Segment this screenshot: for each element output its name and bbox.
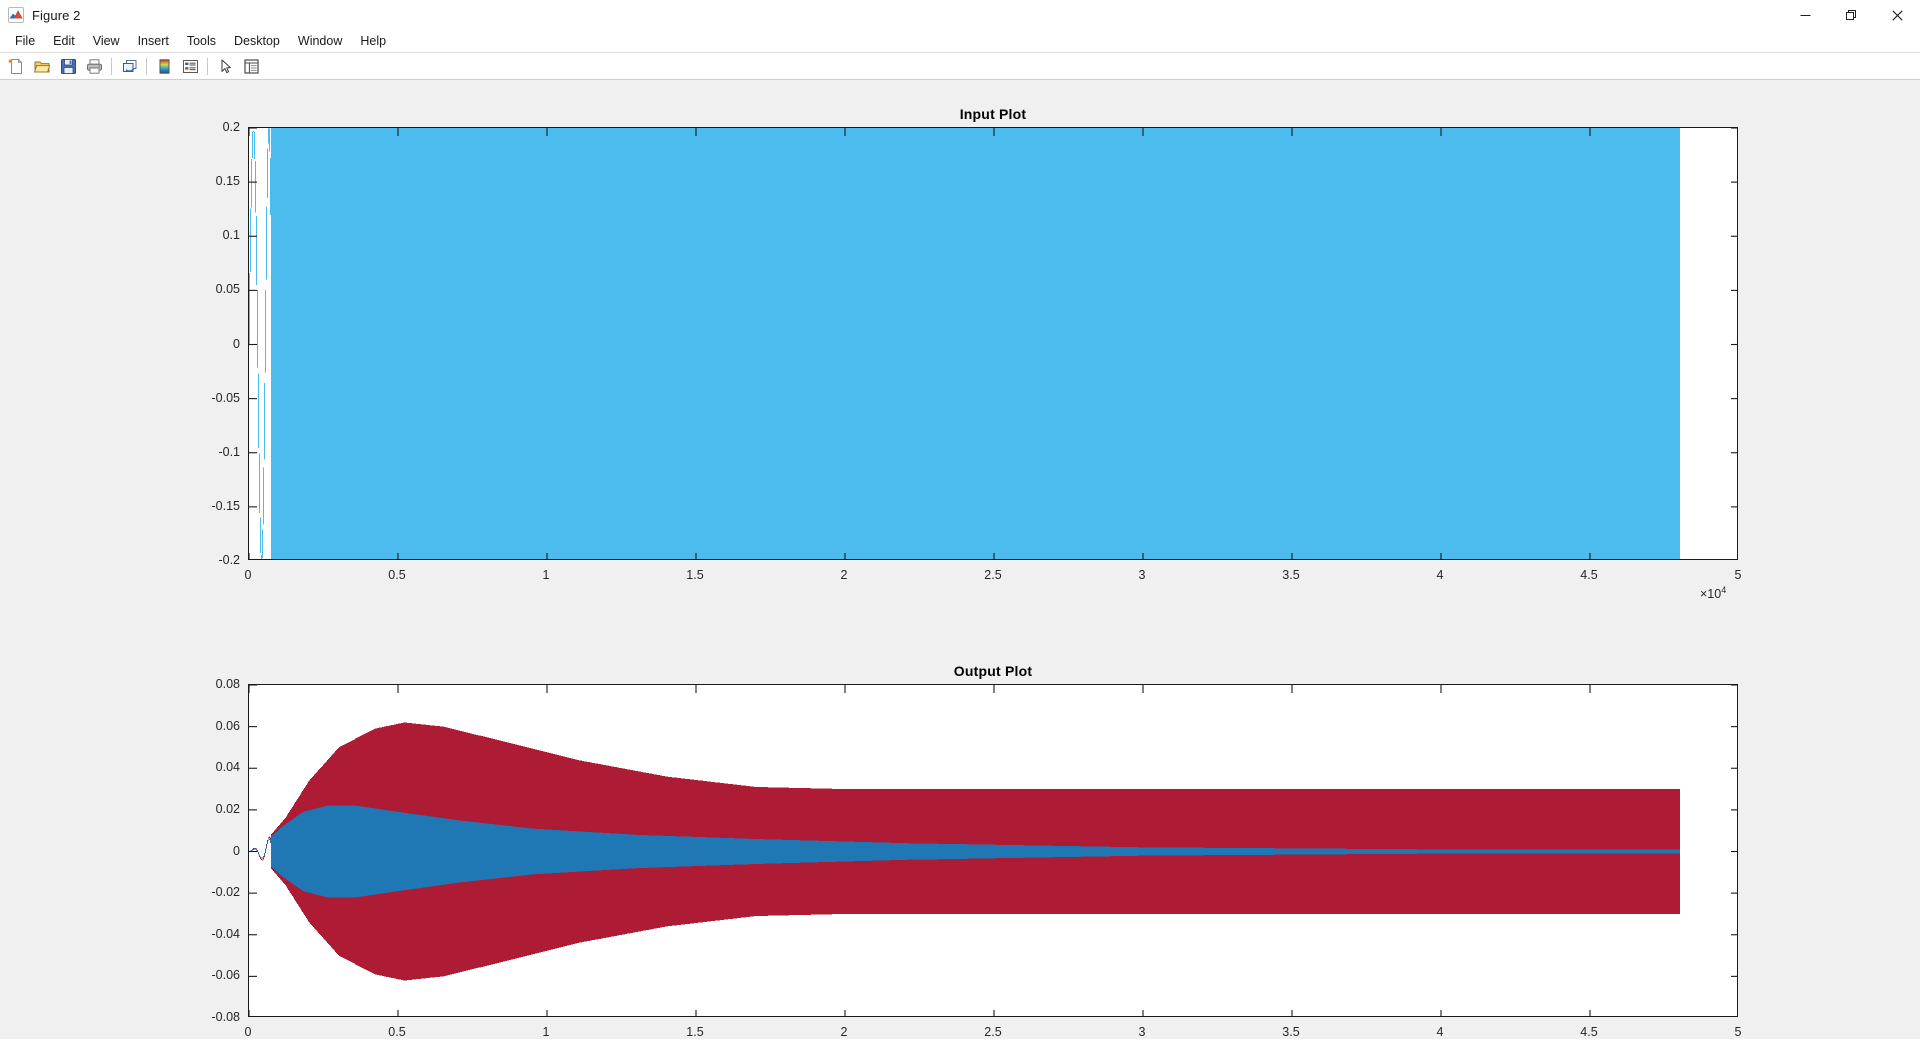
output-plot-area[interactable] xyxy=(248,684,1738,1017)
save-icon[interactable] xyxy=(56,55,80,78)
property-editor-icon[interactable] xyxy=(239,55,263,78)
toolbar-separator-2 xyxy=(146,58,147,75)
xtick-label: 1 xyxy=(543,1025,550,1039)
ytick-label: 0 xyxy=(233,844,240,858)
output-plot-title: Output Plot xyxy=(248,663,1738,679)
xtick-label: 3.5 xyxy=(1282,1025,1299,1039)
print-icon[interactable] xyxy=(82,55,106,78)
menu-insert[interactable]: Insert xyxy=(129,31,178,52)
menu-tools[interactable]: Tools xyxy=(178,31,225,52)
window-title: Figure 2 xyxy=(32,8,81,23)
ytick-label: 0.06 xyxy=(216,719,240,733)
output-plot-traces xyxy=(249,685,1738,1017)
pointer-arrow-icon[interactable] xyxy=(213,55,237,78)
xtick-label: 2.5 xyxy=(984,1025,1001,1039)
menu-help[interactable]: Help xyxy=(351,31,395,52)
window-titlebar: Figure 2 xyxy=(0,0,1920,30)
toolbar-separator-3 xyxy=(207,58,208,75)
ytick-label: -0.08 xyxy=(212,1010,241,1024)
xtick-label: 0 xyxy=(245,1025,252,1039)
xtick-label: 0.5 xyxy=(388,1025,405,1039)
ytick-label: -0.06 xyxy=(212,968,241,982)
menu-desktop[interactable]: Desktop xyxy=(225,31,289,52)
open-folder-icon[interactable] xyxy=(30,55,54,78)
xtick-label: 5 xyxy=(1735,1025,1742,1039)
colorbar-icon[interactable] xyxy=(152,55,176,78)
legend-icon[interactable] xyxy=(178,55,202,78)
ytick-label: -0.02 xyxy=(212,885,241,899)
matlab-figure-icon xyxy=(8,7,24,23)
minimize-button[interactable] xyxy=(1782,0,1828,30)
toolbar-separator-1 xyxy=(111,58,112,75)
ytick-label: 0.02 xyxy=(216,802,240,816)
ytick-label: -0.04 xyxy=(212,927,241,941)
xtick-label: 3 xyxy=(1139,1025,1146,1039)
link-plot-icon[interactable] xyxy=(117,55,141,78)
xtick-label: 1.5 xyxy=(686,1025,703,1039)
menu-window[interactable]: Window xyxy=(289,31,351,52)
ytick-label: 0.04 xyxy=(216,760,240,774)
close-button[interactable] xyxy=(1874,0,1920,30)
menu-bar: File Edit View Insert Tools Desktop Wind… xyxy=(0,30,1920,53)
ytick-label: 0.08 xyxy=(216,677,240,691)
menu-file[interactable]: File xyxy=(6,31,44,52)
maximize-button[interactable] xyxy=(1828,0,1874,30)
xtick-label: 4 xyxy=(1437,1025,1444,1039)
xtick-label: 2 xyxy=(841,1025,848,1039)
menu-view[interactable]: View xyxy=(84,31,129,52)
menu-edit[interactable]: Edit xyxy=(44,31,84,52)
figure-canvas: Input Plot 0.20.150.10.050-0.05-0.1-0.15… xyxy=(0,80,1920,1039)
axes-output-plot: Output Plot 0.080.060.040.020-0.02-0.04-… xyxy=(0,80,1920,1039)
toolbar xyxy=(0,53,1920,80)
xtick-label: 4.5 xyxy=(1580,1025,1597,1039)
new-figure-icon[interactable] xyxy=(4,55,28,78)
